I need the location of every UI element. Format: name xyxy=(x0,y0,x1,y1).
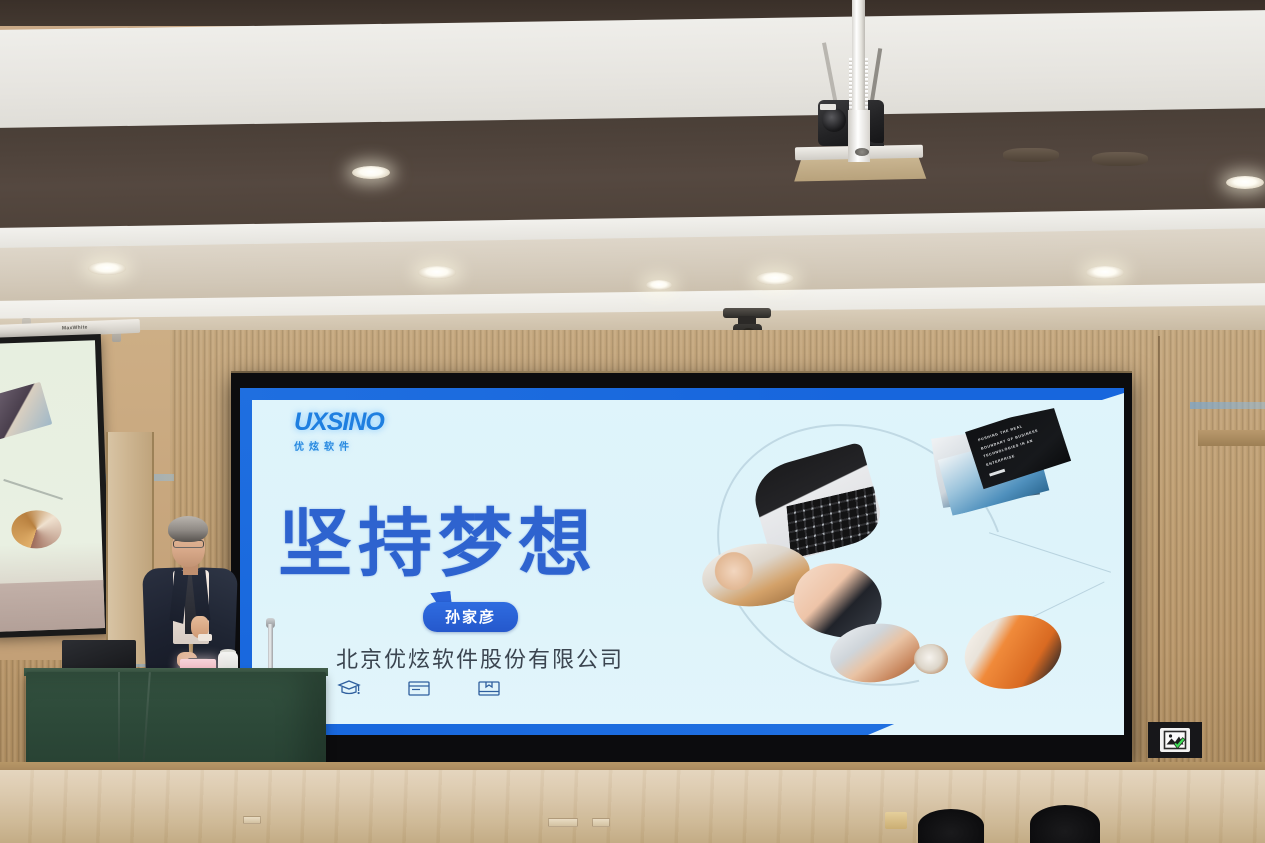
speaker-badge: 孙家彦 xyxy=(423,602,518,632)
wall-shelf-right xyxy=(1198,430,1265,446)
floor-item-4 xyxy=(885,812,907,829)
shirt-cuff xyxy=(198,634,212,641)
mirrored-brochure-image xyxy=(0,382,52,440)
mirrored-circle-image xyxy=(11,509,62,549)
projector-pole xyxy=(852,0,865,120)
floor-item-3 xyxy=(592,818,610,827)
projector-bolt xyxy=(855,148,869,156)
downlight-6 xyxy=(1086,266,1124,279)
audience-head-2 xyxy=(1030,805,1100,843)
document-card-icon xyxy=(406,678,432,698)
screen-surface xyxy=(0,340,105,632)
downlight-1 xyxy=(352,166,390,179)
hair xyxy=(168,516,208,542)
wall-seam-right xyxy=(1158,336,1160,776)
photo-collage: PUSHING THE REAL BOUNDARY OF BUSINESS TE… xyxy=(702,406,1112,706)
mirrored-thin-line xyxy=(3,479,63,500)
graduation-cap-icon xyxy=(336,678,362,698)
slide-title: 坚持梦想 xyxy=(278,484,598,591)
screen-rail-label: MaxWhite xyxy=(62,324,88,331)
slide-icon-row xyxy=(336,678,502,698)
company-name: 北京优炫软件股份有限公司 xyxy=(336,642,624,674)
archive-box-icon xyxy=(476,678,502,698)
downlight-7 xyxy=(646,280,672,290)
floor-item-2 xyxy=(548,818,578,827)
downlight-3 xyxy=(88,262,126,275)
ceiling-vent-1 xyxy=(1003,148,1059,162)
slide-accent-bar-top xyxy=(240,388,1124,400)
collage-line-1 xyxy=(989,532,1111,573)
brochure-front: PUSHING THE REAL BOUNDARY OF BUSINESS TE… xyxy=(965,407,1071,489)
downlight-5 xyxy=(756,272,794,285)
screen-frame xyxy=(0,334,111,638)
conference-hall-scene: MaxWhite UXSINO 优炫软件 坚持梦想 孙家彦 xyxy=(0,0,1265,843)
downlight-4 xyxy=(418,266,456,279)
audience-head-1 xyxy=(918,809,984,843)
ceiling-vent-2 xyxy=(1092,152,1148,166)
brochure-rule xyxy=(989,469,1005,477)
image-with-check-icon xyxy=(1160,728,1190,752)
logo-chinese-name: 优炫软件 xyxy=(294,438,384,453)
speaker-name: 孙家彦 xyxy=(423,602,518,632)
slide-accent-bar-bottom xyxy=(240,724,894,735)
presentation-slide: UXSINO 优炫软件 坚持梦想 孙家彦 北京优炫软件股份有限公司 xyxy=(240,388,1124,735)
downlight-2 xyxy=(1226,176,1264,189)
logo-wordmark: UXSINO xyxy=(294,410,384,435)
floor-item-1 xyxy=(243,816,261,824)
brochure-caption: PUSHING THE REAL BOUNDARY OF BUSINESS TE… xyxy=(977,414,1058,470)
wall-blue-stripe-4 xyxy=(1190,402,1265,409)
small-circle-photo xyxy=(914,644,948,674)
projector-lens-tab xyxy=(820,104,836,110)
brochures-photo: PUSHING THE REAL BOUNDARY OF BUSINESS TE… xyxy=(928,407,1078,517)
screen-bottom-shadow xyxy=(0,580,105,632)
company-logo: UXSINO 优炫软件 xyxy=(294,410,384,453)
projector-lens xyxy=(822,108,846,132)
